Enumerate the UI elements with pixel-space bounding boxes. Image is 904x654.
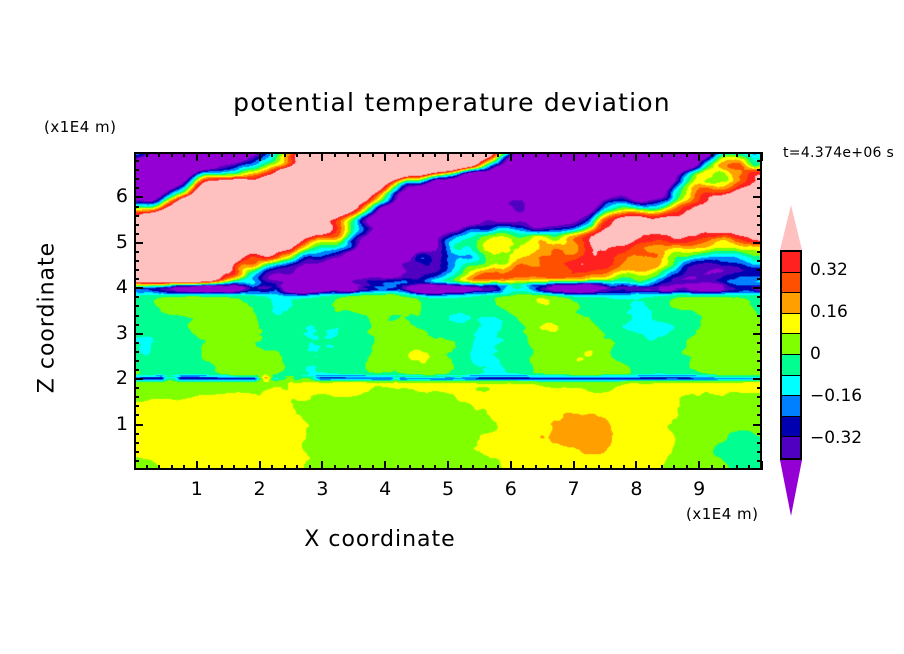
y-tick-label: 1 [98, 413, 128, 435]
y-axis-unit-label: (x1E4 m) [44, 118, 117, 136]
x-tick-label: 8 [616, 478, 656, 500]
x-tick-label: 7 [554, 478, 594, 500]
time-annotation: t=4.374e+06 s [783, 145, 894, 161]
colorbar-tick-label: 0 [810, 344, 821, 364]
y-tick-label: 4 [98, 276, 128, 298]
y-tick-label: 6 [98, 185, 128, 207]
colorbar-band [782, 417, 800, 438]
x-axis-unit-label: (x1E4 m) [686, 505, 759, 523]
colorbar-band [782, 293, 800, 314]
x-tick-label: 1 [177, 478, 217, 500]
x-tick-label: 3 [302, 478, 342, 500]
colorbar-band [782, 334, 800, 355]
colorbar-band [782, 273, 800, 294]
colorbar-band [782, 396, 800, 417]
y-axis-title: Z coordinate [35, 208, 60, 428]
x-tick-label: 6 [491, 478, 531, 500]
colorbar-band [782, 437, 800, 458]
colorbar-band [782, 376, 800, 397]
y-tick-label: 5 [98, 231, 128, 253]
colorbar [780, 250, 802, 460]
x-axis-title: X coordinate [0, 527, 760, 552]
colorbar-tick-label: −0.16 [810, 386, 862, 406]
contour-field-canvas [136, 154, 760, 468]
contour-plot-area [134, 152, 762, 470]
x-tick-label: 2 [240, 478, 280, 500]
x-tick-label: 5 [428, 478, 468, 500]
colorbar-under-arrow [780, 460, 802, 516]
colorbar-band [782, 252, 800, 273]
y-tick-label: 3 [98, 322, 128, 344]
colorbar-tick-label: 0.16 [810, 302, 848, 322]
colorbar-tick-label: −0.32 [810, 428, 862, 448]
colorbar-tick-label: 0.32 [810, 260, 848, 280]
colorbar-band [782, 314, 800, 335]
y-tick-label: 2 [98, 367, 128, 389]
page-title: potential temperature deviation [0, 88, 904, 117]
x-tick-label: 9 [679, 478, 719, 500]
x-tick-label: 4 [365, 478, 405, 500]
colorbar-band [782, 355, 800, 376]
colorbar-over-arrow [780, 205, 802, 250]
